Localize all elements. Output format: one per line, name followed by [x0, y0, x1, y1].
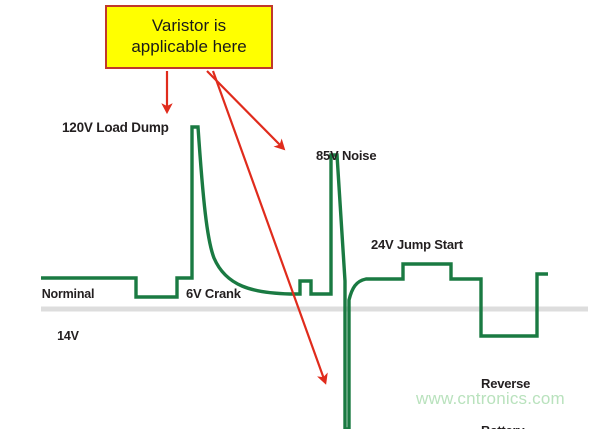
arrow-to-negative-spike	[213, 71, 324, 379]
label-reverse-battery: Reverse Battery	[481, 344, 530, 429]
callout-line-2: applicable here	[131, 37, 246, 58]
label-reverse-line-2: Battery	[481, 423, 530, 429]
battery-voltage-waveform	[41, 127, 548, 429]
callout-line-1: Varistor is	[152, 16, 226, 37]
label-noise: 85V Noise	[316, 149, 376, 164]
label-nominal-line-1: Norminal	[32, 287, 104, 301]
transient-voltage-diagram: Varistor is applicable here 120V Load Du…	[0, 0, 602, 429]
label-nominal: Norminal 14V	[32, 259, 104, 371]
label-nominal-line-2: 14V	[32, 329, 104, 343]
label-load-dump: 120V Load Dump	[62, 120, 169, 135]
site-watermark: www.cntronics.com	[416, 389, 565, 409]
label-crank: 6V Crank	[186, 287, 241, 302]
varistor-callout-box: Varistor is applicable here	[105, 5, 273, 69]
label-jump-start: 24V Jump Start	[371, 238, 463, 253]
